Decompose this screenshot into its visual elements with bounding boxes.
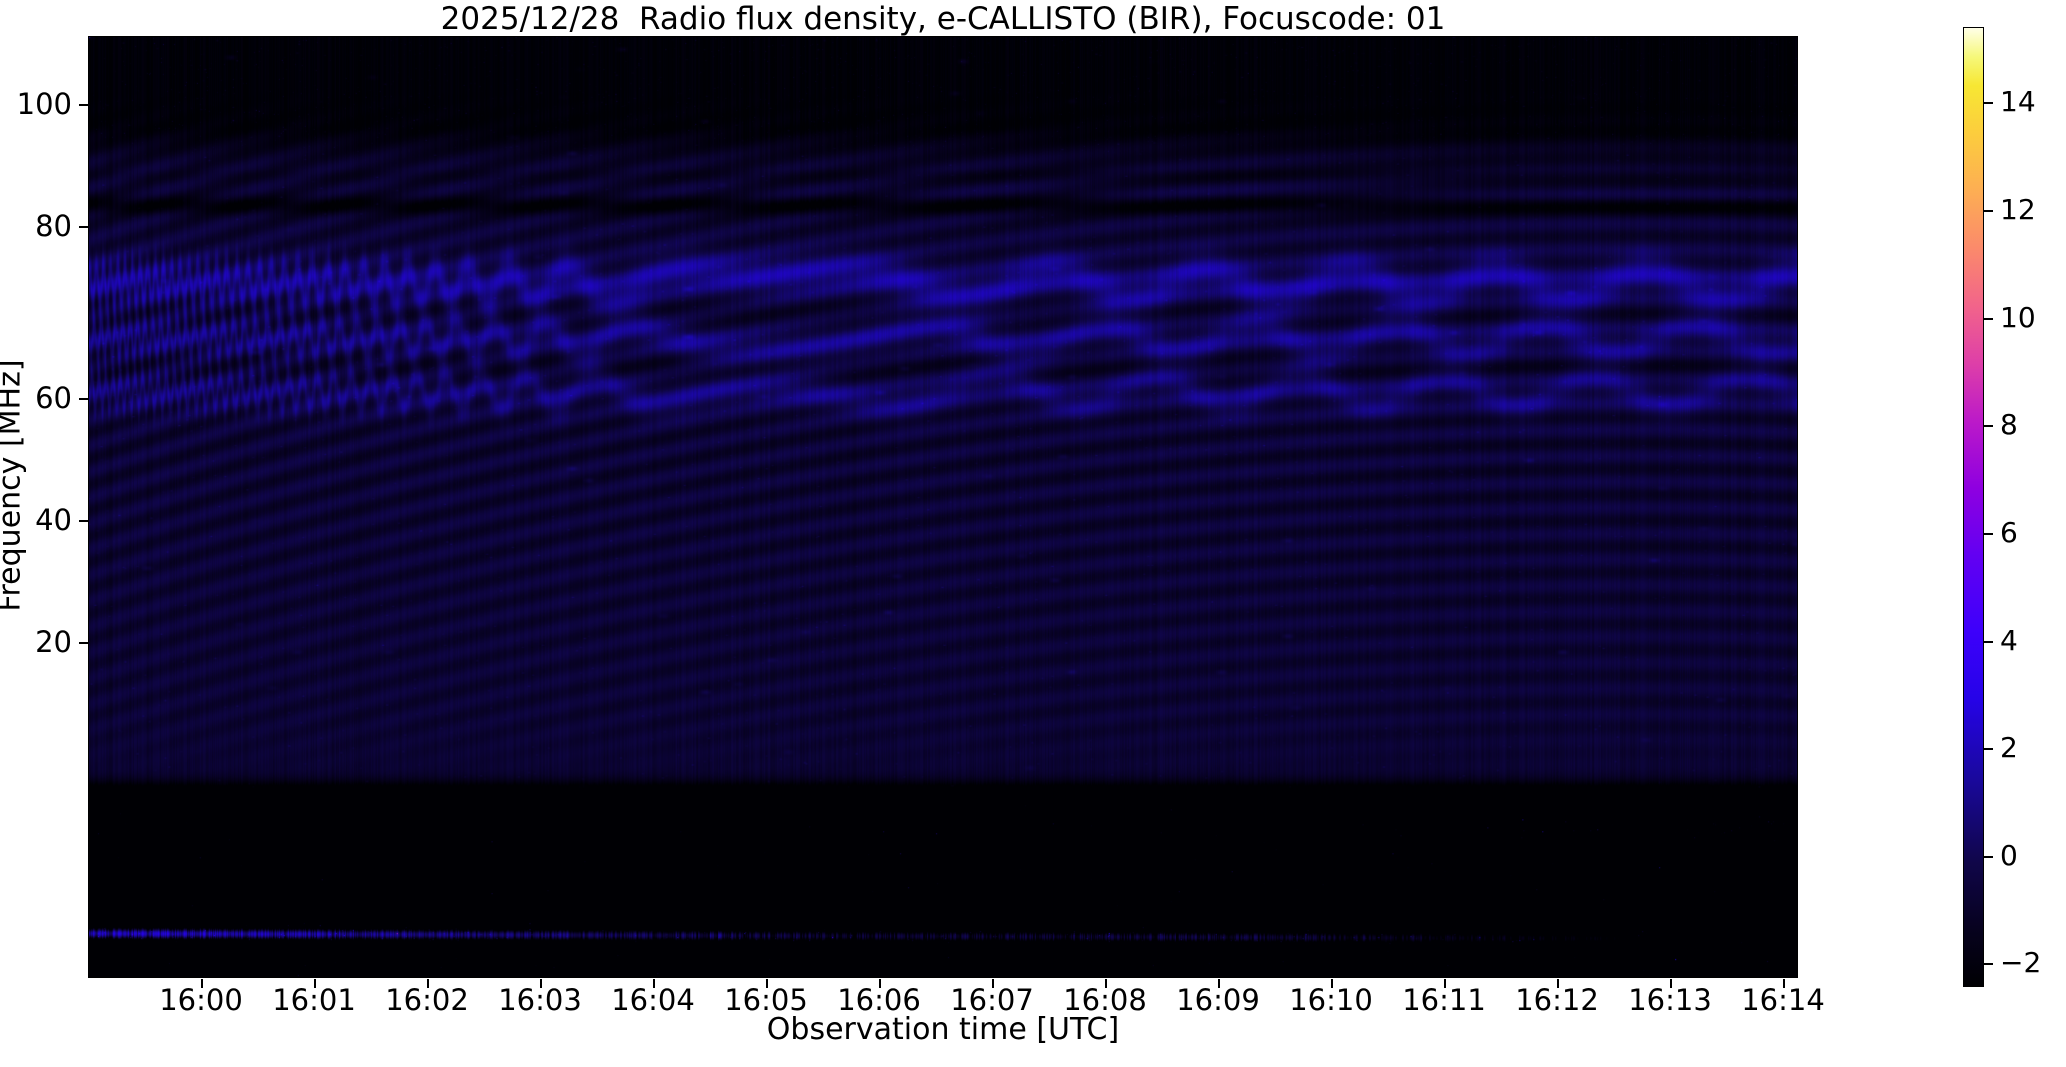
x-tick-mark <box>427 979 429 988</box>
colorbar-tick-label: −2 <box>2000 949 2041 977</box>
x-tick-mark <box>201 979 203 988</box>
colorbar-tick-label: 0 <box>2000 842 2018 870</box>
y-tick-mark <box>79 398 88 400</box>
x-tick-mark <box>1331 979 1333 988</box>
colorbar-tick-label: 8 <box>2000 411 2018 439</box>
colorbar-tick-mark <box>1984 533 1993 535</box>
colorbar-tick-mark <box>1984 641 1993 643</box>
y-axis-label: Frequency [MHz] <box>0 6 28 966</box>
page-title: 2025/12/28 Radio flux density, e-CALLIST… <box>88 2 1798 36</box>
colorbar-tick-label: 2 <box>2000 734 2018 762</box>
x-tick-mark <box>992 979 994 988</box>
colorbar-tick-label: 4 <box>2000 627 2018 655</box>
x-tick-mark <box>314 979 316 988</box>
colorbar-tick-label: 6 <box>2000 519 2018 547</box>
x-tick-mark <box>766 979 768 988</box>
colorbar-tick-mark <box>1984 856 1993 858</box>
colorbar-tick-mark <box>1984 210 1993 212</box>
spectrogram-image <box>89 37 1797 977</box>
y-tick-label: 40 <box>0 506 72 535</box>
y-tick-mark <box>79 104 88 106</box>
spectrogram-figure: 2025/12/28 Radio flux density, e-CALLIST… <box>0 0 2066 1067</box>
y-tick-label: 100 <box>0 90 72 119</box>
x-tick-mark <box>1783 979 1785 988</box>
y-tick-mark <box>79 642 88 644</box>
x-tick-mark <box>1218 979 1220 988</box>
y-tick-mark <box>79 226 88 228</box>
colorbar-tick-mark <box>1984 318 1993 320</box>
spectrogram-plot-area[interactable] <box>88 36 1798 978</box>
colorbar-tick-label: 14 <box>2000 88 2036 116</box>
colorbar-tick-mark <box>1984 102 1993 104</box>
x-tick-mark <box>1444 979 1446 988</box>
x-tick-mark <box>540 979 542 988</box>
x-tick-mark <box>879 979 881 988</box>
colorbar-tick-label: 12 <box>2000 196 2036 224</box>
y-tick-label: 60 <box>0 384 72 413</box>
y-tick-mark <box>79 520 88 522</box>
colorbar-tick-mark <box>1984 963 1993 965</box>
x-axis-label: Observation time [UTC] <box>88 1012 1798 1047</box>
colorbar-tick-mark <box>1984 425 1993 427</box>
colorbar-tick-label: 10 <box>2000 304 2036 332</box>
x-tick-mark <box>1105 979 1107 988</box>
x-tick-mark <box>1670 979 1672 988</box>
y-tick-label: 80 <box>0 212 72 241</box>
x-tick-mark <box>1557 979 1559 988</box>
y-tick-label: 20 <box>0 628 72 657</box>
colorbar-tick-mark <box>1984 748 1993 750</box>
x-tick-label: 16:14 <box>1683 986 1883 1015</box>
x-tick-mark <box>653 979 655 988</box>
colorbar[interactable] <box>1963 27 1984 987</box>
